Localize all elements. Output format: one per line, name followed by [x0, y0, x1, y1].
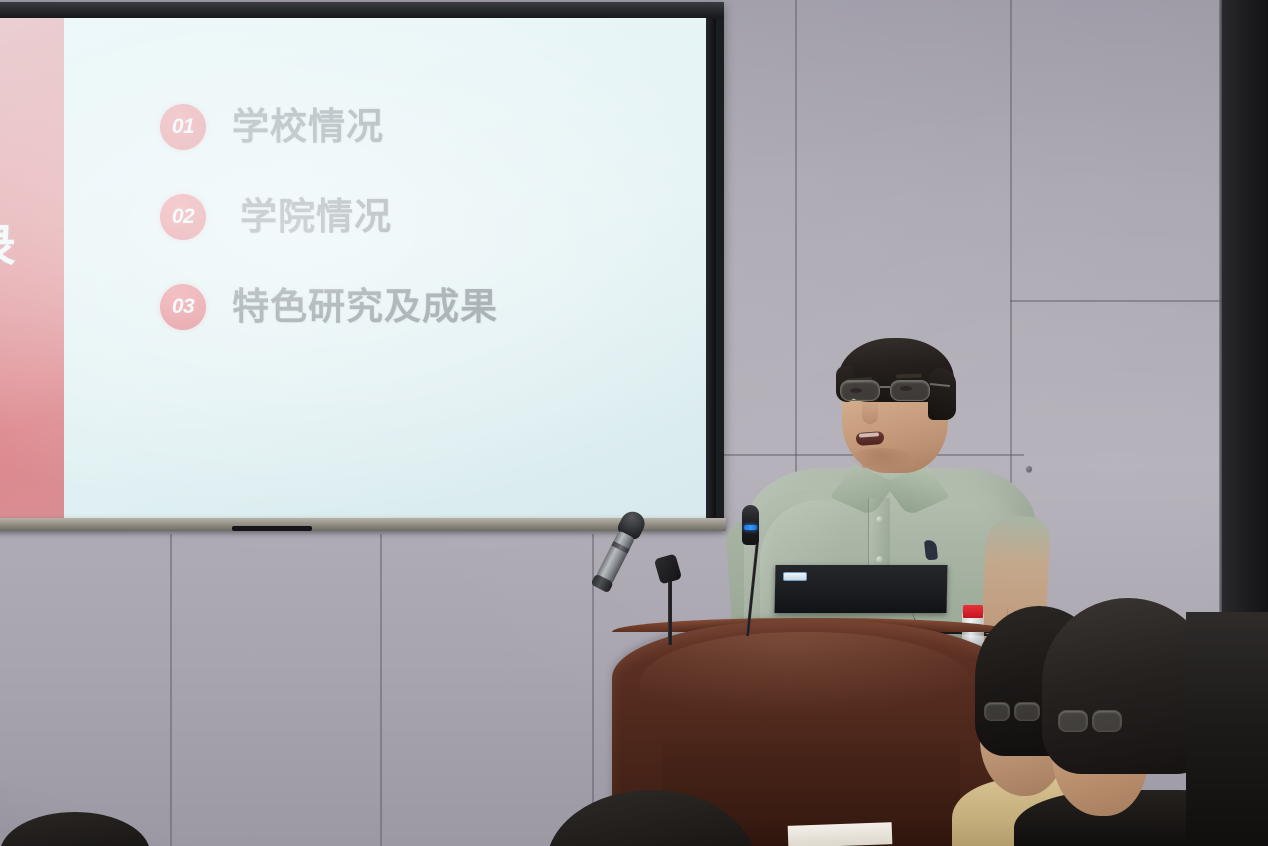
audience-member-glasses [984, 700, 1040, 722]
presentation-photo: 录 01 学校情况 02 学院情况 03 特色研究及成果 [0, 0, 1268, 846]
glasses-lens-left [1058, 710, 1088, 732]
toc-item: 01 学校情况 [160, 104, 680, 150]
toc-number-badge: 01 [160, 104, 206, 150]
glasses-lens-right [890, 380, 930, 401]
paper-sheet [788, 822, 893, 846]
presenter-chin-shadow [848, 448, 914, 472]
ledge-small-device [232, 526, 312, 531]
toc-item: 02 学院情况 [160, 194, 680, 240]
presenter-nose [862, 398, 878, 424]
glasses-bridge [880, 386, 890, 388]
gooseneck-microphone-led [744, 525, 757, 530]
wall-seam-vertical [380, 534, 382, 846]
wall-screw [1026, 466, 1032, 472]
screen-surface: 录 01 学校情况 02 学院情况 03 特色研究及成果 [0, 18, 714, 518]
laptop-sticker [783, 572, 807, 581]
presenter-shirt-button [876, 556, 883, 563]
toc-item-title: 学院情况 [240, 198, 392, 237]
slide-toc-list: 01 学校情况 02 学院情况 03 特色研究及成果 [160, 104, 680, 374]
slide: 录 01 学校情况 02 学院情况 03 特色研究及成果 [0, 18, 714, 518]
toc-item-title: 学校情况 [232, 108, 384, 147]
glasses-lens-left [984, 702, 1010, 721]
presenter-eye [900, 386, 912, 391]
screen-right-frame [706, 18, 716, 520]
glasses-lens-right [1092, 710, 1122, 732]
wall-seam-vertical [170, 534, 172, 846]
foreground-dark-shape [1186, 612, 1268, 846]
presenter-shirt-button [876, 516, 883, 523]
slide-side-band-label: 录 [0, 223, 30, 269]
projection-screen: 录 01 学校情况 02 学院情况 03 特色研究及成果 [0, 2, 724, 526]
slide-side-band: 录 [0, 18, 64, 518]
toc-item: 03 特色研究及成果 [160, 284, 680, 330]
presenter-eye [850, 388, 862, 393]
toc-number-badge: 03 [160, 284, 206, 330]
screen-top-frame [0, 2, 724, 18]
water-bottle-cap [963, 605, 983, 618]
wall-seam-horizontal [1010, 300, 1225, 302]
toc-number-badge: 02 [160, 194, 206, 240]
toc-item-title: 特色研究及成果 [232, 288, 498, 327]
glasses-lens-right [1014, 702, 1040, 721]
audience-member-glasses [1058, 708, 1122, 734]
